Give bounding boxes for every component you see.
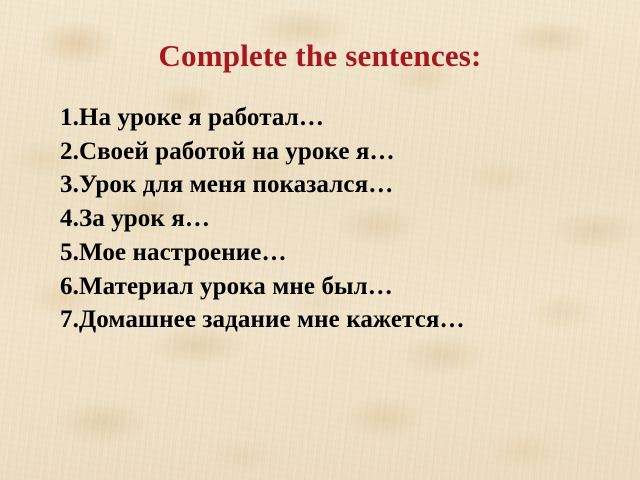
page-title: Complete the sentences:: [0, 38, 640, 74]
list-item: 5.Мое настроение…: [60, 236, 620, 270]
list-item: 6.Материал урока мне был…: [60, 270, 620, 304]
slide-content: Complete the sentences: 1.На уроке я раб…: [0, 0, 640, 480]
presentation-slide: Complete the sentences: 1.На уроке я раб…: [0, 0, 640, 480]
list-item: 2.Своей работой на уроке я…: [60, 135, 620, 169]
list-item: 7.Домашнее задание мне кажется…: [60, 303, 620, 337]
list-item: 1.На уроке я работал…: [60, 101, 620, 135]
sentence-list: 1.На уроке я работал… 2.Своей работой на…: [60, 101, 620, 337]
list-item: 3.Урок для меня показался…: [60, 168, 620, 202]
list-item: 4.За урок я…: [60, 202, 620, 236]
